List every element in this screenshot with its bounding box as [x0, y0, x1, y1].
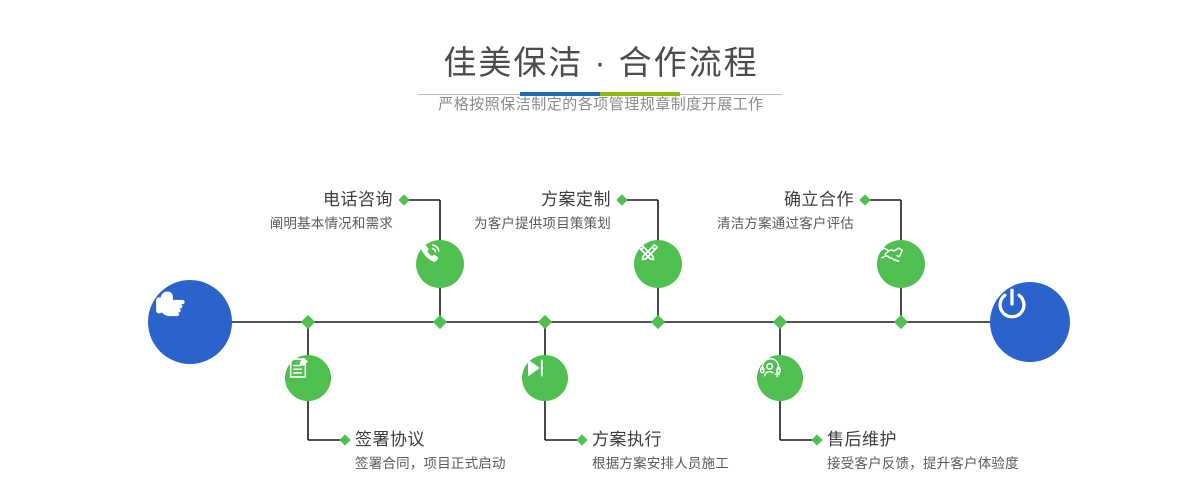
label-diamond-bottom-1 — [339, 434, 350, 445]
flow-label-title: 确立合作 — [612, 191, 854, 208]
process-flow-diagram: 电话咨询 阐明基本情况和需求 方案定制 为客户提供项目策策划 确立合作 清洁方案… — [0, 0, 1202, 502]
flow-label-title: 签署协议 — [355, 431, 615, 448]
label-diamond-top-3 — [859, 194, 870, 205]
spine-diamond-3 — [538, 315, 552, 329]
flow-label-top-3: 确立合作 清洁方案通过客户评估 — [612, 191, 854, 231]
flow-label-desc: 签署合同，项目正式启动 — [355, 457, 615, 471]
flow-end-node[interactable] — [990, 282, 1070, 362]
spine-diamond-4 — [651, 315, 665, 329]
flow-label-desc: 为客户提供项目策策划 — [370, 217, 611, 231]
flow-node-phone-call[interactable] — [416, 240, 464, 288]
flow-node-sign-agreement[interactable] — [285, 355, 331, 401]
spine-diamond-1 — [301, 315, 315, 329]
label-anchor-markers — [339, 194, 870, 445]
flow-label-title: 售后维护 — [827, 431, 1117, 448]
flow-start-node[interactable] — [148, 280, 232, 364]
spine-diamond-6 — [894, 315, 908, 329]
flow-connectors — [0, 0, 1202, 502]
flow-label-desc: 阐明基本情况和需求 — [150, 217, 393, 231]
flow-label-bottom-3: 售后维护 接受客户反馈，提升客户体验度 — [827, 431, 1117, 471]
flow-chart-page: 佳美保洁 · 合作流程 严格按照保洁制定的各项管理规章制度开展工作 — [0, 0, 1202, 502]
flow-label-top-1: 电话咨询 阐明基本情况和需求 — [150, 191, 393, 231]
flow-label-desc: 清洁方案通过客户评估 — [612, 217, 854, 231]
flow-label-title: 方案定制 — [370, 191, 611, 208]
flow-label-title: 电话咨询 — [150, 191, 393, 208]
flow-node-plan-design[interactable] — [634, 240, 682, 288]
flow-label-desc: 根据方案安排人员施工 — [592, 457, 852, 471]
flow-node-plan-execute[interactable] — [522, 355, 568, 401]
flow-label-bottom-1: 签署协议 签署合同，项目正式启动 — [355, 431, 615, 471]
spine-diamond-2 — [433, 315, 447, 329]
flow-node-cooperation[interactable] — [877, 240, 925, 288]
flow-label-top-2: 方案定制 为客户提供项目策策划 — [370, 191, 611, 231]
flow-label-bottom-2: 方案执行 根据方案安排人员施工 — [592, 431, 852, 471]
spine-diamond-5 — [773, 315, 787, 329]
flow-node-after-sales[interactable] — [757, 355, 803, 401]
flow-label-title: 方案执行 — [592, 431, 852, 448]
flow-label-desc: 接受客户反馈，提升客户体验度 — [827, 457, 1117, 471]
